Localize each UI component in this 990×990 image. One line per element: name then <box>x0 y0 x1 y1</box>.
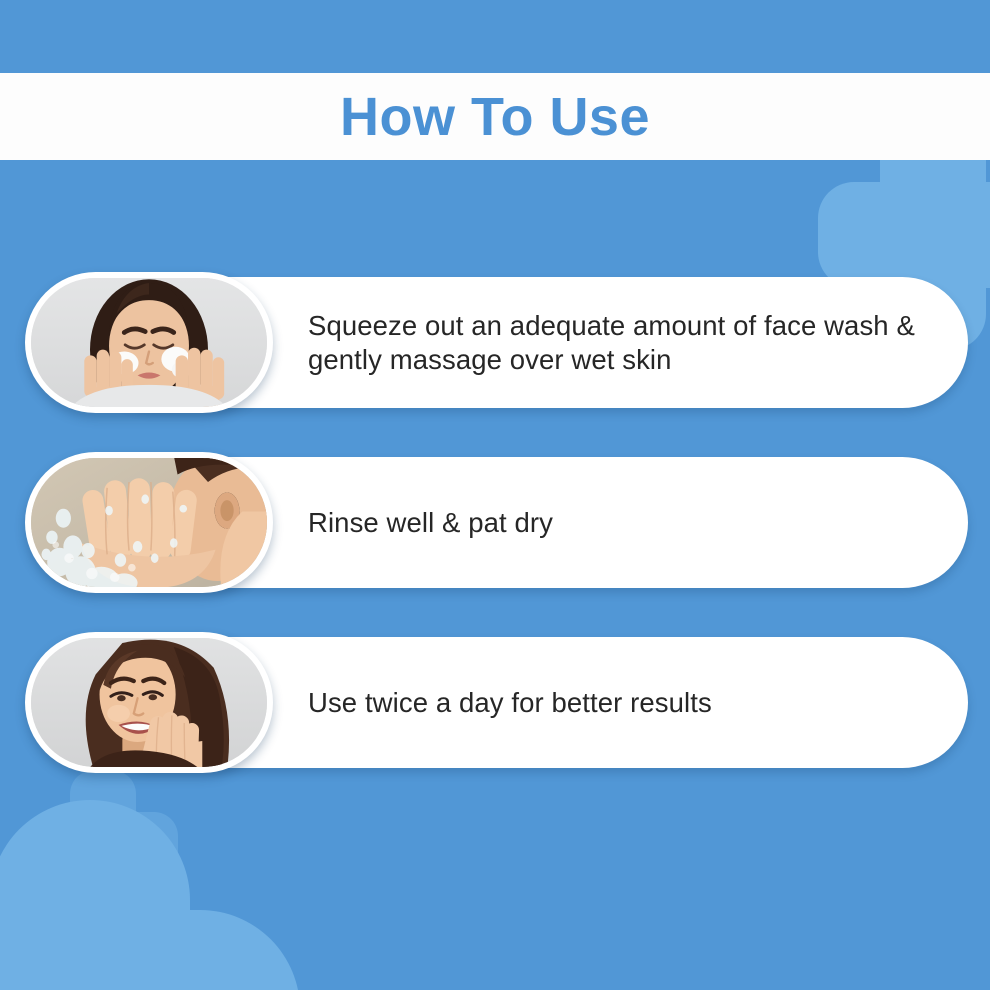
header-band: How To Use <box>0 73 990 160</box>
hands-rinsing-face-with-water-photo <box>31 458 267 587</box>
list-item: Squeeze out an adequate amount of face w… <box>0 160 990 340</box>
facewash-illustration-svg <box>31 278 267 407</box>
smiling-woman-touching-cheek-photo <box>31 638 267 767</box>
step-thumbnail-1[interactable] <box>25 272 273 413</box>
step-text-3: Use twice a day for better results <box>308 686 712 720</box>
rinse-illustration-svg <box>31 458 267 587</box>
plus-shape-bottom-left-icon <box>0 800 300 990</box>
step-thumbnail-3[interactable] <box>25 632 273 773</box>
step-thumbnail-2[interactable] <box>25 452 273 593</box>
woman-applying-facewash-foam-photo <box>31 278 267 407</box>
steps-list: Squeeze out an adequate amount of face w… <box>0 160 990 700</box>
how-to-use-poster: How To Use Squeeze out an adequate amoun… <box>0 0 990 990</box>
plus-shape-bottom-left-small-icon <box>28 770 178 920</box>
page-title: How To Use <box>340 90 650 144</box>
smile-illustration-svg <box>31 638 267 767</box>
